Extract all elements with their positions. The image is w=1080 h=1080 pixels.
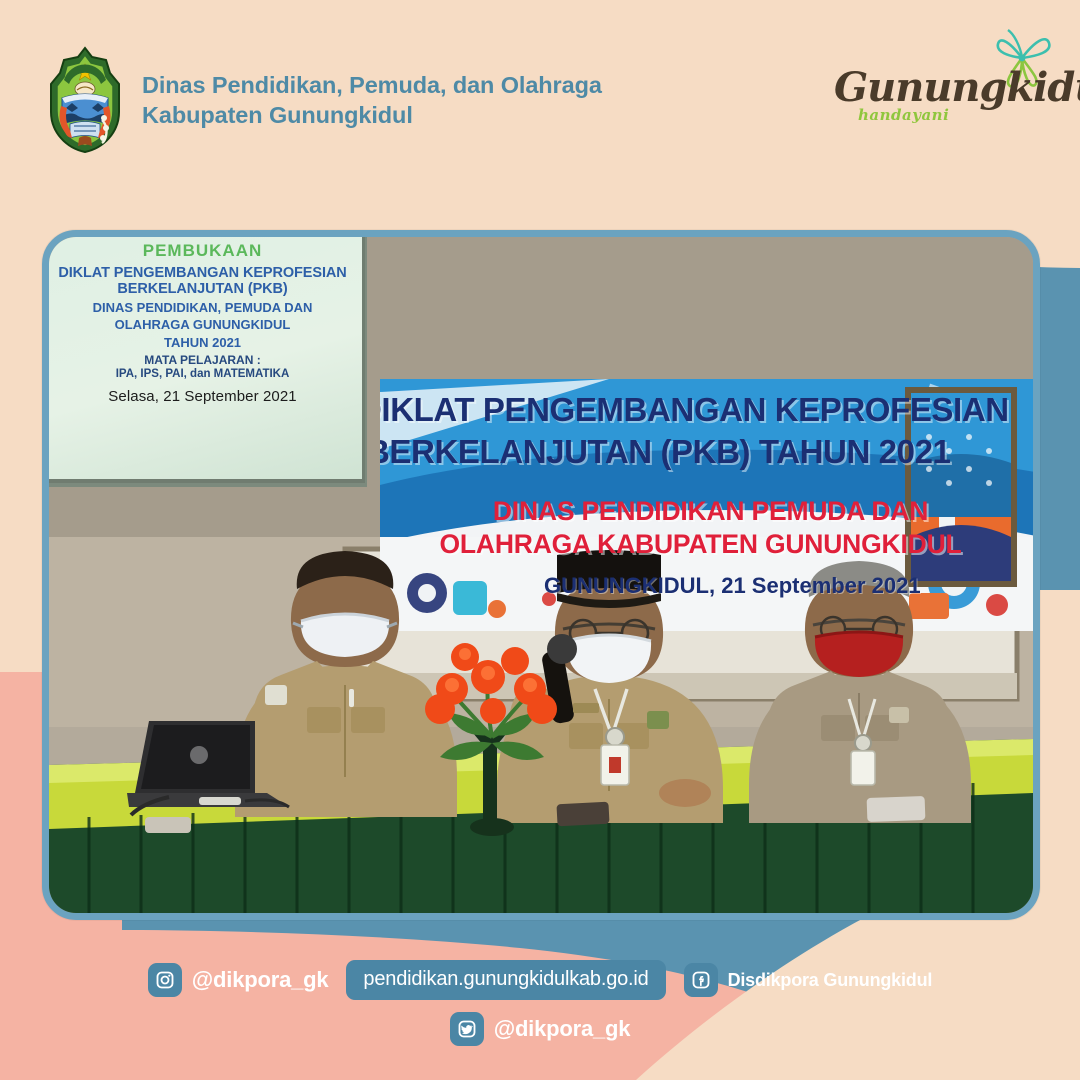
footer-row-bottom: @dikpora_gk [0,1012,1080,1046]
slide-line-7: IPA, IPS, PAI, dan MATEMATIKA [49,368,356,381]
banner-line-2: BERKELANJUTAN (PKB) TAHUN 2021 [380,433,1027,471]
gunungkidul-brand-logo: Gunungkidul handayani [826,30,1058,140]
poster-canvas: Dinas Pendidikan, Pemuda, dan Olahraga K… [0,0,1080,1080]
banner-line-5: GUNUNGKIDUL, 21 September 2021 [544,573,921,599]
banner-line-3: DINAS PENDIDIKAN PEMUDA DAN [380,496,1033,527]
facebook-page-name[interactable]: Disdikpora Gunungkidul [728,970,933,991]
slide-line-3: DINAS PENDIDIKAN, PEMUDA DAN [49,301,356,316]
header-title-line-2: Kabupaten Gunungkidul [142,100,602,130]
banner-line-1: DIKLAT PENGEMBANGAN KEPROFESIAN [380,391,1019,429]
header-title-line-1: Dinas Pendidikan, Pemuda, dan Olahraga [142,70,602,100]
facebook-icon[interactable] [684,963,718,997]
brand-tagline: handayani [858,106,949,124]
facebook-item[interactable]: Disdikpora Gunungkidul [684,963,933,997]
slide-line-2: BERKELANJUTAN (PKB) [49,281,356,297]
projector-slide: PEMBUKAAN DIKLAT PENGEMBANGAN KEPROFESIA… [49,237,365,483]
event-photo-card: PEMBUKAAN DIKLAT PENGEMBANGAN KEPROFESIA… [42,230,1040,920]
header: Dinas Pendidikan, Pemuda, dan Olahraga K… [0,0,640,200]
instagram-icon[interactable] [148,963,182,997]
slide-line-5: TAHUN 2021 [49,336,356,351]
gunungkidul-regency-crest [46,46,124,154]
slide-line-1: DIKLAT PENGEMBANGAN KEPROFESIAN [49,265,356,281]
header-title-block: Dinas Pendidikan, Pemuda, dan Olahraga K… [142,70,602,130]
twitter-item[interactable]: @dikpora_gk [450,1012,631,1046]
backdrop-banner: DIKLAT PENGEMBANGAN KEPROFESIAN BERKELAN… [380,379,1033,631]
banner-line-4: OLAHRAGA KABUPATEN GUNUNGKIDUL [380,529,1031,560]
slide-line-6: MATA PELAJARAN : [49,354,356,367]
footer-row-top: @dikpora_gk pendidikan.gunungkidulkab.go… [0,960,1080,1000]
instagram-handle[interactable]: @dikpora_gk [192,967,329,993]
website-url-badge[interactable]: pendidikan.gunungkidulkab.go.id [346,960,665,1000]
slide-date: Selasa, 21 September 2021 [49,389,356,406]
footer-social-bar: @dikpora_gk pendidikan.gunungkidulkab.go… [0,960,1080,1058]
brand-wordmark: Gunungkidul [834,64,1080,111]
slide-title: PEMBUKAAN [49,241,356,260]
instagram-item[interactable]: @dikpora_gk [148,963,329,997]
twitter-icon[interactable] [450,1012,484,1046]
slide-line-4: OLAHRAGA GUNUNGKIDUL [49,318,356,333]
event-photo: PEMBUKAAN DIKLAT PENGEMBANGAN KEPROFESIA… [49,237,1033,913]
twitter-handle[interactable]: @dikpora_gk [494,1016,631,1042]
